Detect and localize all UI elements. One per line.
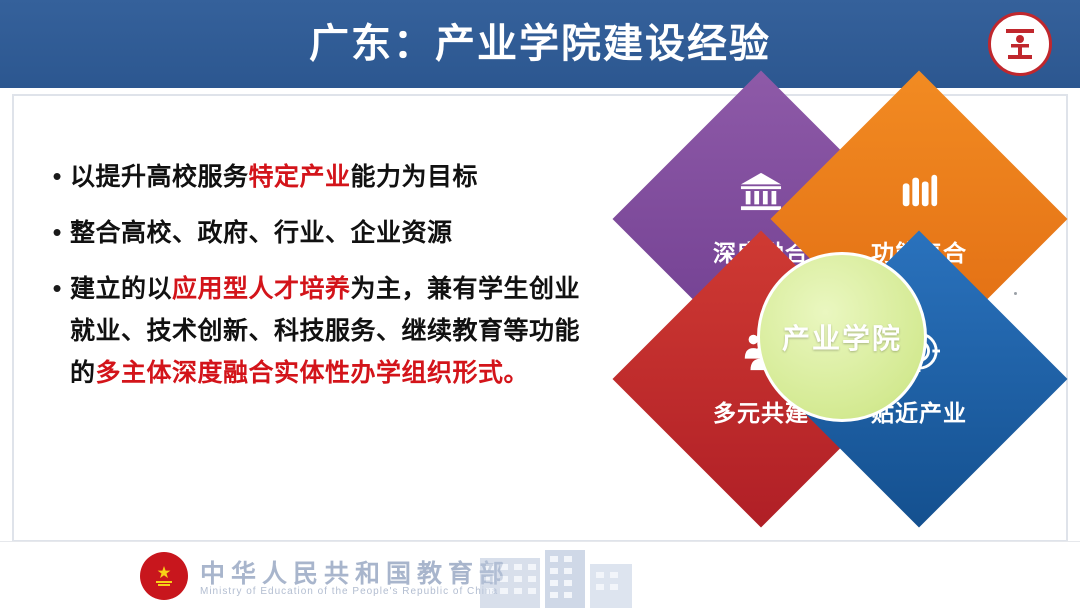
bullet-marker: • — [44, 156, 70, 196]
ministry-building-icon — [470, 542, 640, 608]
national-emblem-glyph — [147, 559, 181, 593]
bullet-text: 以提升高校服务特定产业能力为目标 — [70, 156, 604, 198]
academy-emblem-glyph — [1000, 24, 1040, 64]
footer: 中华人民共和国教育部 Ministry of Education of the … — [0, 541, 1080, 608]
national-emblem-icon — [140, 552, 188, 600]
content-frame: • 以提升高校服务特定产业能力为目标 • 整合高校、政府、行业、企业资源 • 建… — [12, 94, 1068, 542]
bullet-segment-highlight: 多主体深度融合实体性办学组织形式。 — [96, 359, 530, 387]
diagram: 深度融合 功能复合 — [614, 104, 1064, 534]
footer-org-name: 中华人民共和国教育部 — [200, 554, 510, 590]
diagram-center-label: 产业学院 — [782, 317, 902, 357]
diagram-center-node: 产业学院 — [757, 252, 927, 422]
bullet-marker: • — [44, 212, 70, 252]
bullet-segment-highlight: 应用型人才培养 — [172, 275, 351, 303]
academy-emblem-icon — [988, 12, 1052, 76]
bullet-text: 整合高校、政府、行业、企业资源 — [70, 212, 604, 254]
list-item: • 整合高校、政府、行业、企业资源 — [44, 212, 604, 254]
bullet-segment: 建立的以 — [70, 275, 172, 303]
footer-org-name-en: Ministry of Education of the People's Re… — [200, 586, 498, 597]
list-item: • 以提升高校服务特定产业能力为目标 — [44, 156, 604, 198]
bank-columns-icon — [738, 170, 784, 212]
bullet-segment: 以提升高校服务 — [70, 163, 249, 191]
bar-chart-icon — [896, 170, 942, 212]
bullet-list: • 以提升高校服务特定产业能力为目标 • 整合高校、政府、行业、企业资源 • 建… — [44, 156, 604, 408]
decorative-dot — [1014, 292, 1017, 295]
bullet-segment: 整合高校、政府、行业、企业资源 — [70, 219, 453, 247]
bullet-text: 建立的以应用型人才培养为主，兼有学生创业就业、技术创新、科技服务、继续教育等功能… — [70, 268, 604, 394]
bullet-marker: • — [44, 268, 70, 308]
bullet-segment: 能力为目标 — [351, 163, 479, 191]
bullet-segment-highlight: 特定产业 — [249, 163, 351, 191]
slide: 广东：产业学院建设经验 • 以提升高校服务特定产业能力为目标 • — [0, 0, 1080, 608]
list-item: • 建立的以应用型人才培养为主，兼有学生创业就业、技术创新、科技服务、继续教育等… — [44, 268, 604, 394]
